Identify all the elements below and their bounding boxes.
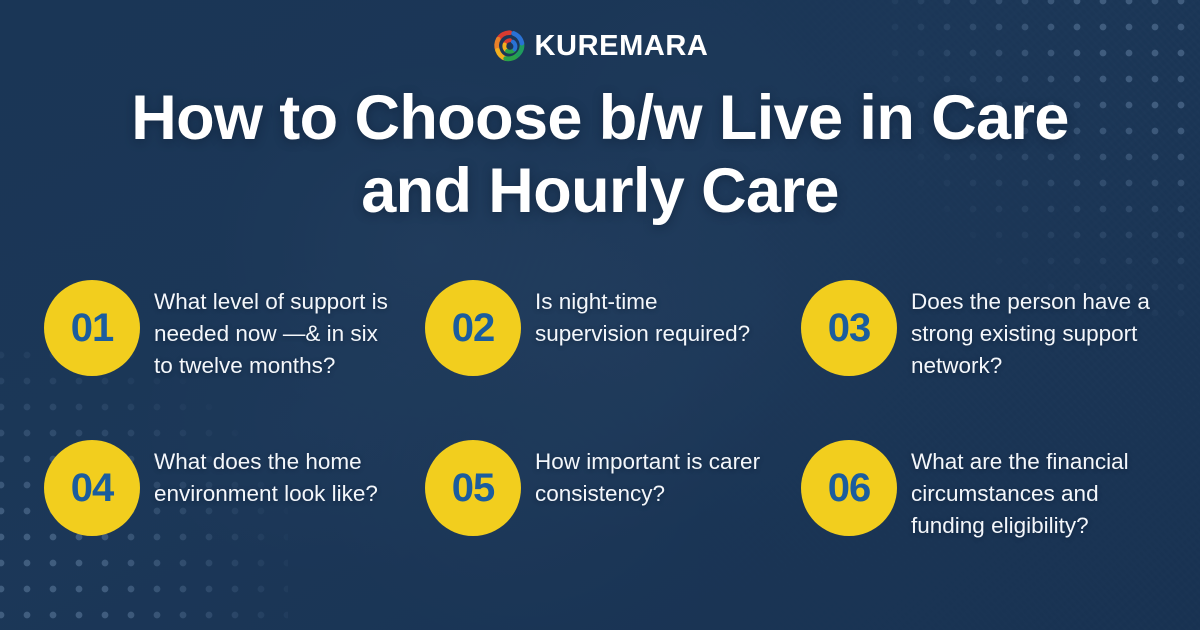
question-item-05: 05 How important is carer consistency? xyxy=(425,436,765,596)
kuremara-swirl-icon xyxy=(492,28,528,64)
question-number-badge: 06 xyxy=(801,440,897,536)
page-title-line-1: How to Choose b/w Live in Care xyxy=(70,82,1130,155)
question-number: 03 xyxy=(828,308,871,348)
question-number-badge: 05 xyxy=(425,440,521,536)
question-text: Does the person have a strong existing s… xyxy=(911,276,1156,382)
question-number-badge: 04 xyxy=(44,440,140,536)
question-number: 01 xyxy=(71,308,114,348)
question-number: 02 xyxy=(452,308,495,348)
question-item-06: 06 What are the financial circumstances … xyxy=(801,436,1156,596)
question-number: 06 xyxy=(828,468,871,508)
question-number: 04 xyxy=(71,468,114,508)
question-number-badge: 03 xyxy=(801,280,897,376)
question-item-03: 03 Does the person have a strong existin… xyxy=(801,276,1156,436)
page-title: How to Choose b/w Live in Care and Hourl… xyxy=(70,82,1130,228)
question-text: What does the home environment look like… xyxy=(154,436,389,510)
poster-content: KUREMARA How to Choose b/w Live in Care … xyxy=(0,0,1200,630)
question-number-badge: 02 xyxy=(425,280,521,376)
question-text: Is night-time supervision required? xyxy=(535,276,765,350)
brand-logo: KUREMARA xyxy=(0,28,1200,64)
question-item-02: 02 Is night-time supervision required? xyxy=(425,276,765,436)
question-text: What are the financial circumstances and… xyxy=(911,436,1156,542)
question-text: What level of support is needed now —& i… xyxy=(154,276,389,382)
question-item-04: 04 What does the home environment look l… xyxy=(44,436,389,596)
infographic-poster: KUREMARA How to Choose b/w Live in Care … xyxy=(0,0,1200,630)
question-text: How important is carer consistency? xyxy=(535,436,765,510)
page-title-line-2: and Hourly Care xyxy=(70,155,1130,228)
brand-name: KUREMARA xyxy=(535,32,709,61)
question-item-01: 01 What level of support is needed now —… xyxy=(44,276,389,436)
question-grid: 01 What level of support is needed now —… xyxy=(44,276,1156,596)
question-number-badge: 01 xyxy=(44,280,140,376)
question-number: 05 xyxy=(452,468,495,508)
